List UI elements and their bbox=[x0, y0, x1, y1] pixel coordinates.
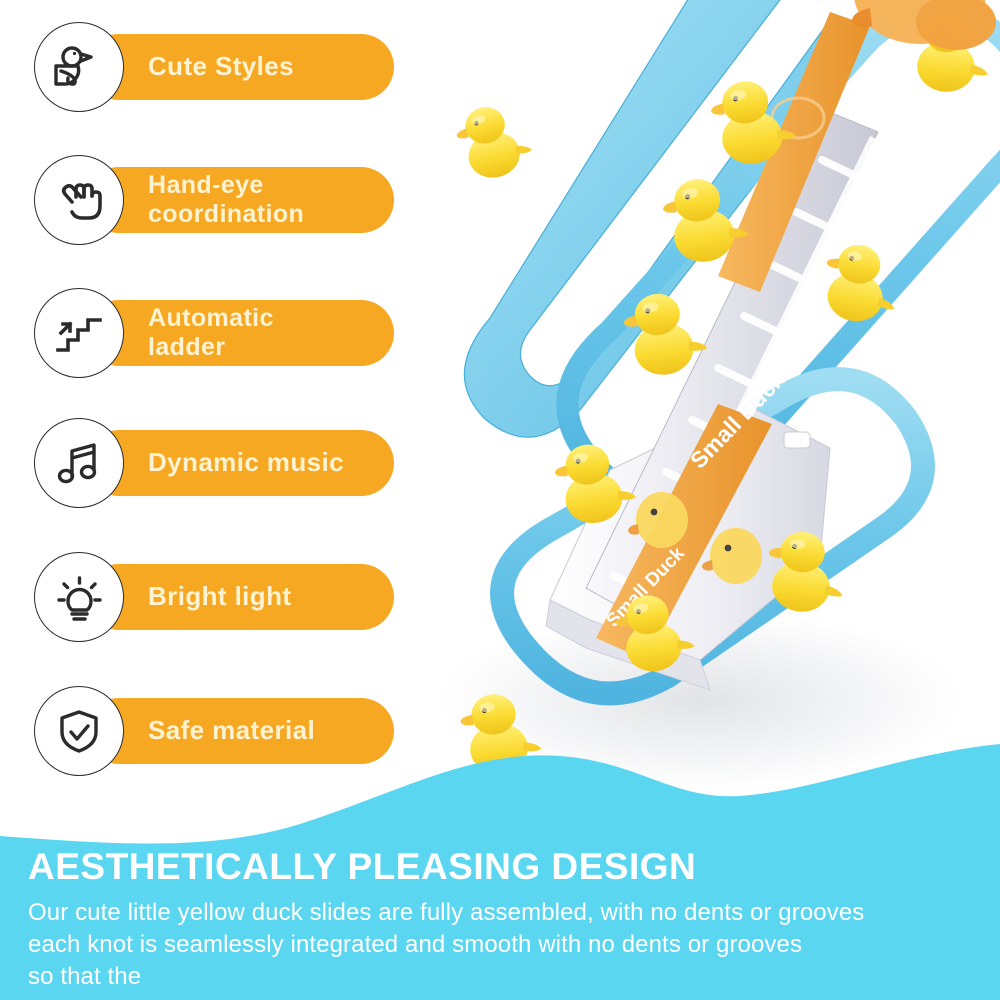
product-photo: Small Duck Small Duck bbox=[400, 0, 1000, 820]
bottom-panel: AESTHETICALLY PLEASING DESIGN Our cute l… bbox=[0, 740, 1000, 1000]
feature-item-hand-eye-coordination[interactable]: Hand-eye coordination bbox=[34, 155, 400, 247]
feature-label: Hand-eye coordination bbox=[148, 171, 304, 229]
feature-label: Cute Styles bbox=[148, 52, 294, 82]
feature-label: Bright light bbox=[148, 582, 291, 612]
feature-pill: Bright light bbox=[86, 564, 394, 630]
feature-item-automatic-ladder[interactable]: Automatic ladder bbox=[34, 288, 400, 380]
feature-item-dynamic-music[interactable]: Dynamic music bbox=[34, 418, 400, 510]
page-headline: AESTHETICALLY PLEASING DESIGN bbox=[28, 848, 978, 887]
body-line-2: each knot is seamlessly integrated and s… bbox=[28, 929, 978, 961]
body-line-3: so that the bbox=[28, 961, 978, 993]
feature-label: Automatic ladder bbox=[148, 304, 274, 362]
toy-latch bbox=[784, 432, 810, 448]
body-line-1: Our cute little yellow duck slides are f… bbox=[28, 897, 978, 929]
lightbulb-icon bbox=[34, 552, 124, 642]
duck-on-track-left bbox=[452, 98, 537, 184]
shield-check-icon bbox=[34, 686, 124, 776]
feature-pill: Hand-eye coordination bbox=[86, 167, 394, 233]
hand-pointer-icon bbox=[34, 155, 124, 245]
music-note-icon bbox=[34, 418, 124, 508]
feature-list: Cute Styles Hand-eye coordination bbox=[0, 0, 400, 800]
feature-item-bright-light[interactable]: Bright light bbox=[34, 552, 400, 644]
feature-item-cute-styles[interactable]: Cute Styles bbox=[34, 22, 400, 114]
feature-pill: Dynamic music bbox=[86, 430, 394, 496]
feature-pill: Cute Styles bbox=[86, 34, 394, 100]
feature-label: Dynamic music bbox=[148, 448, 344, 478]
bottom-text-block: AESTHETICALLY PLEASING DESIGN Our cute l… bbox=[28, 848, 978, 993]
infographic-page: Small Duck Small Duck bbox=[0, 0, 1000, 1000]
duck-icon bbox=[34, 22, 124, 112]
stairs-up-icon bbox=[34, 288, 124, 378]
feature-pill: Automatic ladder bbox=[86, 300, 394, 366]
